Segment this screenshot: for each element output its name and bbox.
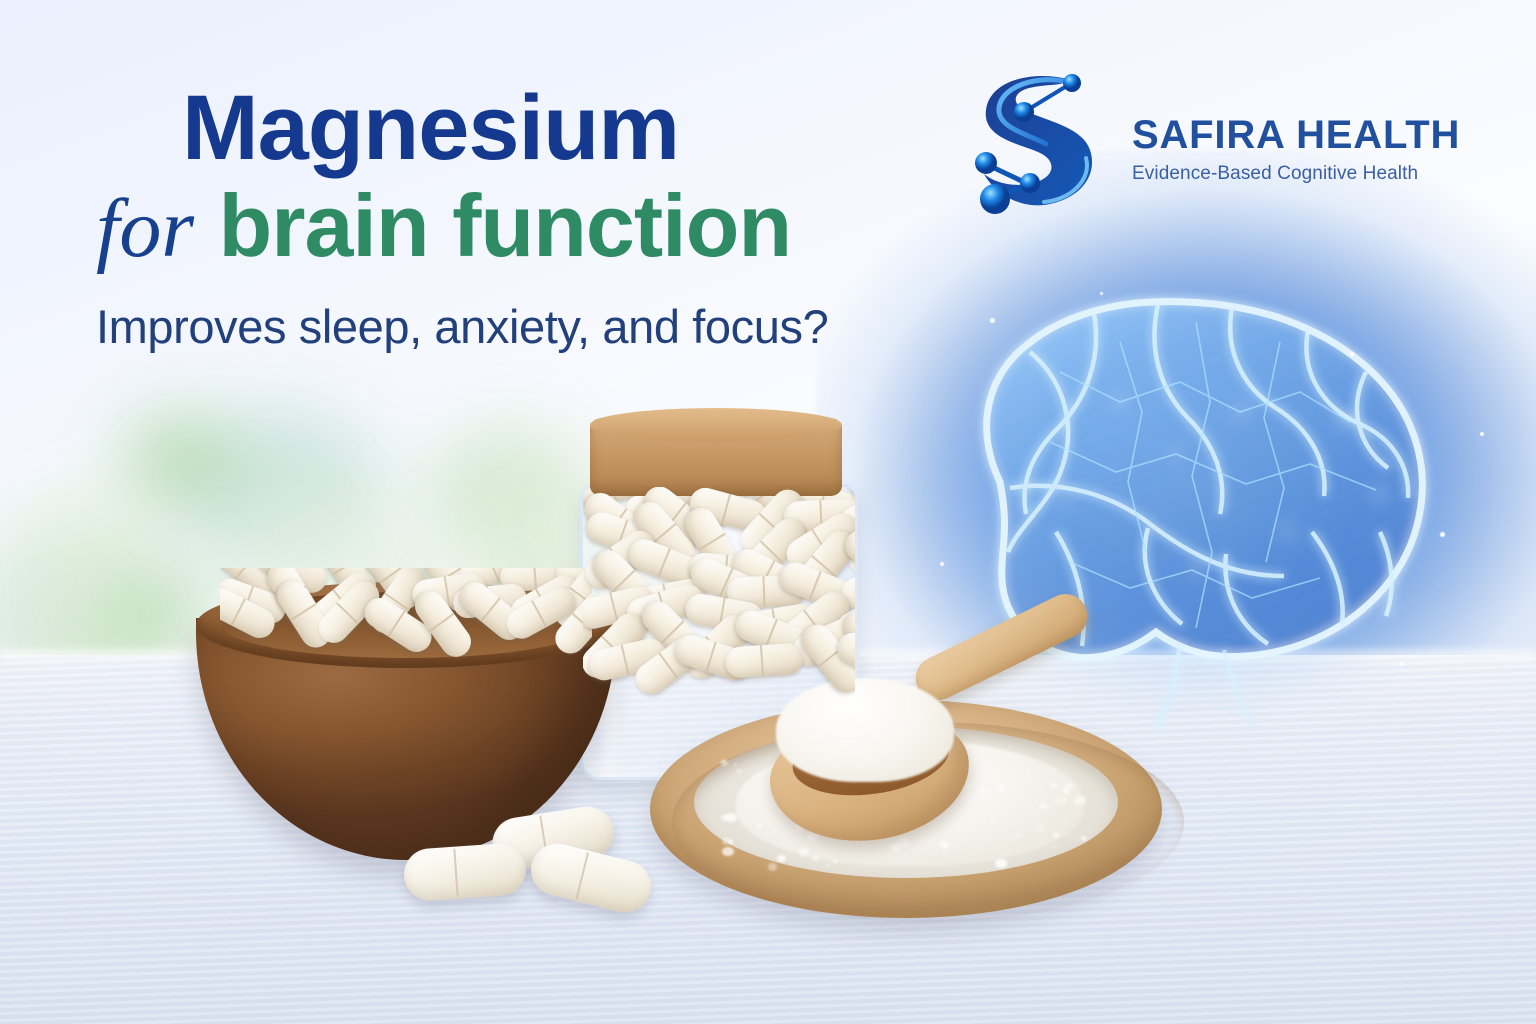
jar-cork-top (590, 408, 842, 442)
wooden-scoop (770, 656, 1110, 846)
headline-highlight: brain function (218, 176, 791, 275)
scoop-powder-heap (776, 678, 954, 782)
headline-line-2: for brain function (96, 182, 926, 271)
logo-tagline: Evidence-Based Cognitive Health (1132, 164, 1460, 183)
safira-s-network-icon (966, 62, 1118, 222)
subtitle: Improves sleep, anxiety, and focus? (96, 299, 926, 354)
headline-word-for: for (96, 182, 194, 275)
headline-line-1: Magnesium (96, 82, 926, 174)
logo-text-block: SAFIRA HEALTH Evidence-Based Cognitive H… (1132, 101, 1460, 183)
capsule (402, 842, 527, 902)
bowl-capsules (220, 568, 592, 664)
promo-banner: Magnesium for brain function Improves sl… (0, 0, 1536, 1024)
brand-logo[interactable]: SAFIRA HEALTH Evidence-Based Cognitive H… (966, 62, 1460, 222)
powder-plate (650, 700, 1162, 940)
headline-block: Magnesium for brain function Improves sl… (96, 82, 926, 354)
logo-brand-name: SAFIRA HEALTH (1132, 115, 1460, 155)
